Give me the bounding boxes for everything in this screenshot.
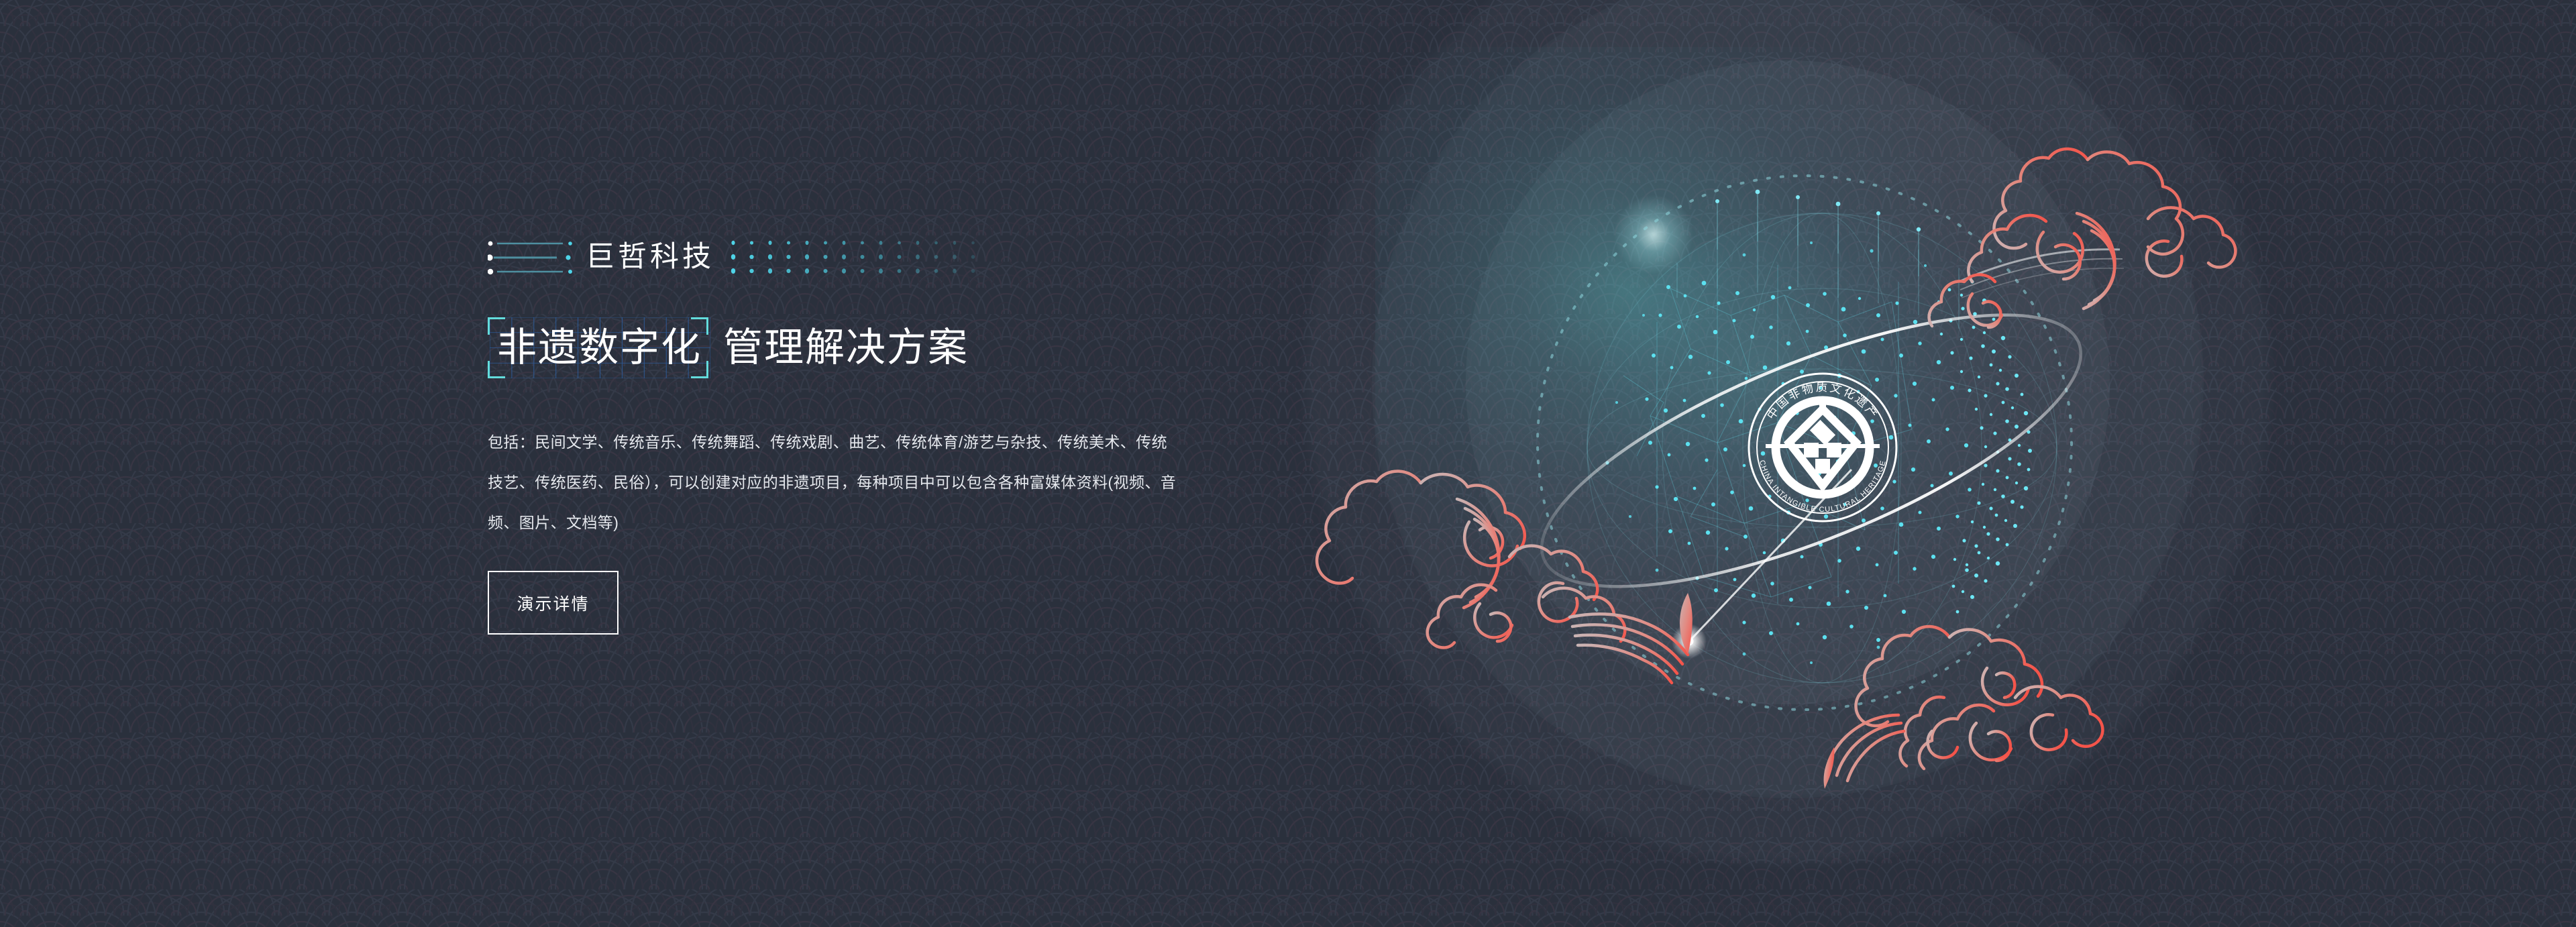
meteor-glow	[1672, 624, 1707, 659]
brand-name: 巨哲科技	[586, 243, 714, 272]
chinese-wave-scallop-pattern	[0, 0, 2576, 927]
headline-highlight-box: 非遗数字化	[488, 317, 708, 378]
globe-data-spikes	[1717, 192, 1919, 276]
globe-graphic	[0, 0, 2576, 927]
headline-highlight-text: 非遗数字化	[497, 328, 702, 368]
globe-spike-tips	[1715, 190, 1921, 232]
hero-banner: 中国非物质文化遗产 CHINA INTANGIBLE CULTURAL HERI…	[0, 0, 2576, 927]
meteor-dot	[1685, 637, 1694, 646]
page-title: 非遗数字化 管理解决方案	[488, 308, 1226, 387]
orbit-tail-3	[1962, 268, 2124, 298]
dot-grid-decor-icon	[731, 237, 992, 276]
headline-rest-text: 管理解决方案	[723, 328, 969, 368]
hero-content: 巨哲科技 非遗数字化 管理解决方案 包括：民间文学、传统音乐、传统舞蹈、传统戏剧…	[488, 236, 1226, 635]
orbit-tail-1	[1959, 250, 2120, 282]
china-intangible-cultural-heritage-emblem: 中国非物质文化遗产 CHINA INTANGIBLE CULTURAL HERI…	[1736, 361, 1909, 534]
hero-description: 包括：民间文学、传统音乐、传统舞蹈、传统戏剧、曲艺、传统体育/游艺与杂技、传统美…	[488, 422, 1179, 543]
brand-row: 巨哲科技	[488, 236, 1226, 278]
glow-core-highlight	[1613, 195, 1694, 275]
demo-details-button[interactable]: 演示详情	[488, 571, 619, 635]
auspicious-cloud-left	[1317, 471, 1693, 683]
orbit-tail-2	[1960, 259, 2123, 290]
particle-dots-limb	[1928, 280, 2032, 613]
three-lines-decor-icon	[488, 238, 574, 277]
auspicious-cloud-bottom-right	[1824, 626, 2103, 789]
auspicious-cloud-top-right	[1929, 149, 2236, 327]
